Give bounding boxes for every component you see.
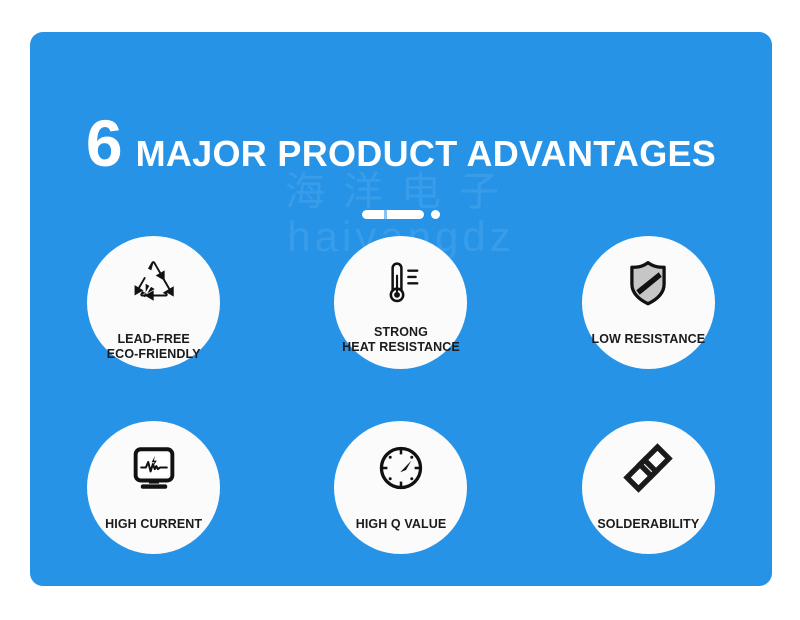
advantages-panel: 海洋电子 haiyangdz 6MAJOR PRODUCT ADVANTAGES (30, 32, 772, 586)
feature-badge-high-current[interactable]: HIGH CURRENT (87, 421, 220, 554)
divider-bar (362, 210, 424, 219)
monitor-waveform-icon (125, 439, 183, 497)
feature-cell: HIGH CURRENT (30, 421, 277, 586)
feature-label: LOW RESISTANCE (570, 332, 727, 347)
feature-cell: LOW RESISTANCE (525, 236, 772, 421)
feature-badge-lead-free[interactable]: LEAD-FREE ECO-FRIENDLY (87, 236, 220, 369)
feature-grid: LEAD-FREE ECO-FRIENDLY (30, 236, 772, 586)
chain-link-icon (619, 439, 677, 497)
poster-canvas: 海洋电子 haiyangdz 6MAJOR PRODUCT ADVANTAGES (0, 0, 800, 620)
recycle-icon (125, 254, 183, 312)
gauge-icon (372, 439, 430, 497)
shield-icon (619, 254, 677, 312)
feature-badge-heat-resistance[interactable]: STRONG HEAT RESISTANCE (334, 236, 467, 369)
feature-label: STRONG HEAT RESISTANCE (312, 325, 489, 354)
page-title: 6MAJOR PRODUCT ADVANTAGES (30, 110, 772, 176)
feature-badge-high-q-value[interactable]: HIGH Q VALUE (334, 421, 467, 554)
feature-badge-low-resistance[interactable]: LOW RESISTANCE (582, 236, 715, 369)
feature-badge-solderability[interactable]: SOLDERABILITY (582, 421, 715, 554)
watermark-chinese: 海洋电子 (30, 172, 772, 212)
divider-dot (431, 210, 440, 219)
feature-cell: STRONG HEAT RESISTANCE (277, 236, 524, 421)
feature-label: HIGH CURRENT (75, 517, 232, 532)
title-text: MAJOR PRODUCT ADVANTAGES (136, 136, 717, 172)
title-divider (30, 210, 772, 219)
feature-cell: SOLDERABILITY (525, 421, 772, 586)
feature-label: LEAD-FREE ECO-FRIENDLY (75, 332, 232, 361)
feature-label: HIGH Q VALUE (322, 517, 479, 532)
feature-cell: HIGH Q VALUE (277, 421, 524, 586)
feature-cell: LEAD-FREE ECO-FRIENDLY (30, 236, 277, 421)
feature-label: SOLDERABILITY (570, 517, 727, 532)
title-number: 6 (86, 110, 122, 176)
thermometer-icon (372, 254, 430, 312)
